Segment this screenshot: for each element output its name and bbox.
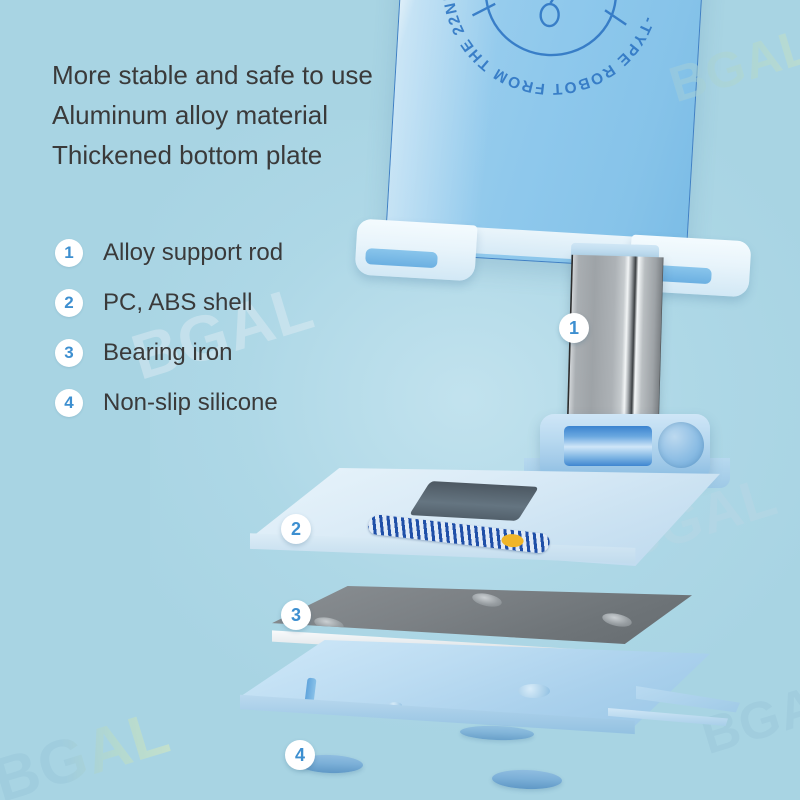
screw-hole bbox=[313, 615, 345, 633]
hinge-slot bbox=[564, 426, 652, 466]
pc-abs-shell-plate bbox=[250, 468, 720, 590]
screw-boss bbox=[518, 684, 550, 698]
callout-badge-1: 1 bbox=[559, 313, 589, 343]
feature-item-3: 3 Bearing iron bbox=[55, 328, 283, 378]
screw-hole bbox=[601, 611, 633, 629]
alloy-support-rod bbox=[567, 255, 664, 437]
feature-item-2: 2 PC, ABS shell bbox=[55, 278, 283, 328]
feature-item-1: 1 Alloy support rod bbox=[55, 228, 283, 278]
phone-hook-left bbox=[354, 218, 477, 281]
feature-label-1: Alloy support rod bbox=[103, 239, 283, 267]
headline-block: More stable and safe to use Aluminum all… bbox=[52, 55, 472, 175]
callout-badge-2: 2 bbox=[281, 514, 311, 544]
callout-badge-3: 3 bbox=[281, 600, 311, 630]
headline-line-1: More stable and safe to use bbox=[52, 55, 472, 95]
feature-badge-3: 3 bbox=[55, 339, 83, 367]
feature-label-4: Non-slip silicone bbox=[103, 389, 278, 417]
feature-badge-2: 2 bbox=[55, 289, 83, 317]
feature-badge-1: 1 bbox=[55, 239, 83, 267]
feature-badge-4: 4 bbox=[55, 389, 83, 417]
headline-line-3: Thickened bottom plate bbox=[52, 135, 472, 175]
headline-line-2: Aluminum alloy material bbox=[52, 95, 472, 135]
product-infographic: BGAL BGAL BGAL BGAL -TYPE ROBOT FROM THE… bbox=[0, 0, 800, 800]
callout-badge-4: 4 bbox=[285, 740, 315, 770]
screw-hole bbox=[471, 591, 503, 609]
silicone-pad bbox=[492, 769, 563, 790]
feature-label-3: Bearing iron bbox=[103, 339, 232, 367]
feature-item-4: 4 Non-slip silicone bbox=[55, 378, 283, 428]
hinge-cap-icon bbox=[658, 422, 704, 468]
hook-lip-left bbox=[365, 248, 438, 268]
feature-label-2: PC, ABS shell bbox=[103, 289, 252, 317]
logo-accent-dot bbox=[500, 533, 525, 548]
feature-list: 1 Alloy support rod 2 PC, ABS shell 3 Be… bbox=[55, 228, 283, 428]
shell-recess-slot bbox=[409, 481, 539, 521]
